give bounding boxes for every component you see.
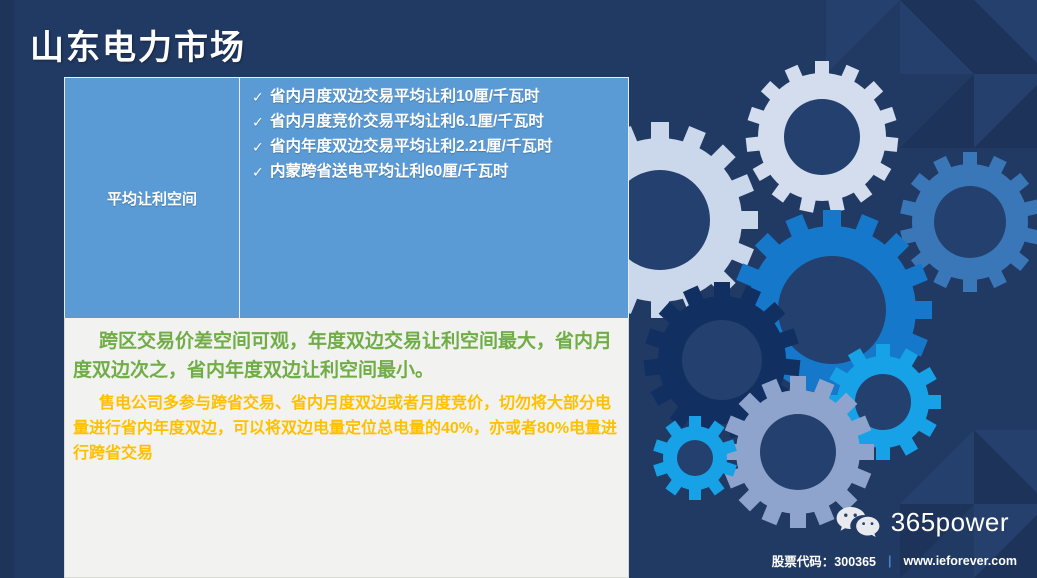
page-title: 山东电力市场 (30, 20, 246, 69)
list-item-label: 省内月度竞价交易平均让利6.1厘/千瓦时 (270, 111, 618, 134)
brand-name: 365power (891, 507, 1009, 538)
footer-bar: 股票代码：300365 | www.ieforever.com (772, 551, 1017, 570)
info-table: 平均让利空间 ✓ 省内月度双边交易平均让利10厘/千瓦时 ✓ 省内月度竞价交易平… (64, 77, 629, 318)
gears-illustration (600, 0, 1037, 578)
left-edge-strip (0, 0, 14, 578)
conclusion-panel: 跨区交易价差空间可观，年度双边交易让利空间最大，省内月度双边次之，省内年度双边让… (64, 318, 629, 578)
list-item-label: 省内月度双边交易平均让利10厘/千瓦时 (270, 86, 618, 109)
gear-cyan-small (653, 416, 737, 500)
check-icon: ✓ (252, 111, 270, 133)
recommendation-orange-text: 售电公司多参与跨省交易、省内月度双边或者月度竞价，切勿将大部分电量进行省内年度双… (73, 392, 620, 467)
list-item: ✓ 省内年度双边交易平均让利2.21厘/千瓦时 (252, 136, 618, 159)
list-item: ✓ 省内月度竞价交易平均让利6.1厘/千瓦时 (252, 111, 618, 134)
wechat-icon (835, 505, 881, 539)
table-row-label: 平均让利空间 (65, 78, 240, 318)
list-item-label: 省内年度双边交易平均让利2.21厘/千瓦时 (270, 136, 618, 159)
list-item: ✓ 内蒙跨省送电平均让利60厘/千瓦时 (252, 161, 618, 184)
stock-code: 股票代码：300365 (772, 551, 876, 570)
website-url[interactable]: www.ieforever.com (904, 554, 1017, 568)
check-icon: ✓ (252, 86, 270, 108)
gear-light-top (746, 61, 899, 213)
brand-block: 365power (835, 505, 1009, 539)
content-panel: 平均让利空间 ✓ 省内月度双边交易平均让利10厘/千瓦时 ✓ 省内月度竞价交易平… (64, 77, 629, 578)
table-bullet-list: ✓ 省内月度双边交易平均让利10厘/千瓦时 ✓ 省内月度竞价交易平均让利6.1厘… (240, 78, 628, 318)
conclusion-green-text: 跨区交易价差空间可观，年度双边交易让利空间最大，省内月度双边次之，省内年度双边让… (73, 328, 620, 386)
check-icon: ✓ (252, 136, 270, 158)
list-item-label: 内蒙跨省送电平均让利60厘/千瓦时 (270, 161, 618, 184)
list-item: ✓ 省内月度双边交易平均让利10厘/千瓦时 (252, 86, 618, 109)
check-icon: ✓ (252, 161, 270, 183)
footer-separator: | (888, 554, 892, 568)
